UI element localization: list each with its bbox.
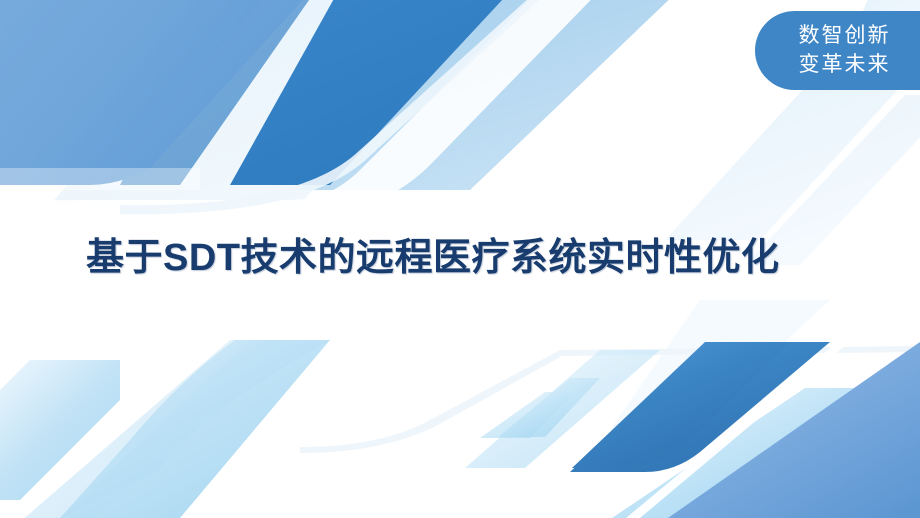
badge-line-1: 数智创新 (799, 22, 891, 51)
slide-canvas: 数智创新 变革未来 基于SDT技术的远程医疗系统实时性优化 (0, 0, 920, 518)
deco-top-block-fade (0, 168, 200, 190)
title-block: 基于SDT技术的远程医疗系统实时性优化 (86, 232, 806, 286)
page-title: 基于SDT技术的远程医疗系统实时性优化 (86, 232, 806, 286)
brand-badge: 数智创新 变革未来 (755, 11, 920, 90)
badge-line-2: 变革未来 (799, 51, 891, 80)
deco-topright-hairline (898, 330, 920, 338)
